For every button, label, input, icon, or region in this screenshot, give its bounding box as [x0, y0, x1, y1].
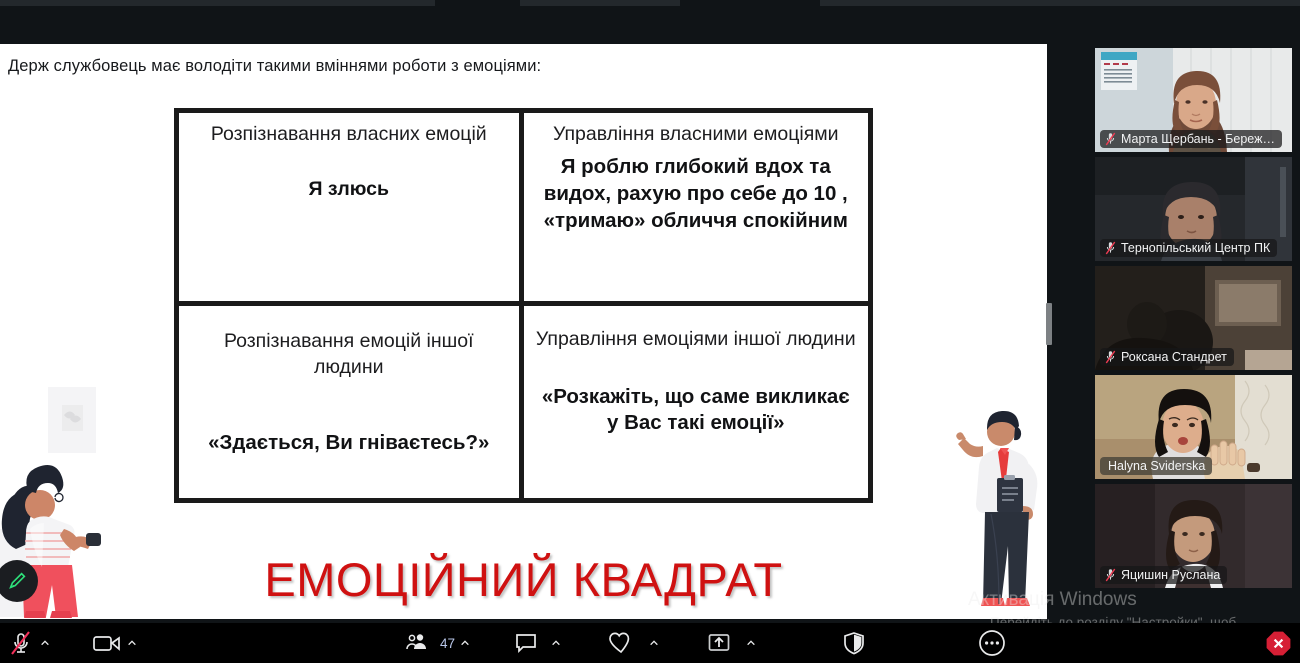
video-tile[interactable]: Тернопільський Центр ПК: [1095, 157, 1292, 261]
heart-icon: [608, 631, 634, 655]
chevron-up-icon: [649, 638, 659, 648]
quadrant-body: Я роблю глибокий вдох та видох, рахую пр…: [534, 154, 859, 234]
title-bar-segment: [820, 0, 1300, 6]
participants-options-caret[interactable]: [460, 623, 470, 663]
microphone-muted-icon: [1105, 568, 1116, 582]
reactions-button[interactable]: [608, 623, 634, 663]
video-tile[interactable]: Яцишин Руслана: [1095, 484, 1292, 588]
participant-name-label: Марта Щербань - Береж…: [1100, 130, 1282, 148]
leave-meeting-icon: [1265, 630, 1292, 657]
video-options-caret[interactable]: [127, 623, 137, 663]
quadrant-body: «Здається, Ви гніваєтесь?»: [208, 430, 489, 457]
quadrant-cell-top-right: Управління власними емоціями Я роблю гли…: [524, 113, 869, 306]
quadrant-title: Розпізнавання власних емоцій: [211, 121, 487, 147]
participant-name-text: Яцишин Руслана: [1121, 568, 1220, 582]
pen-icon: [6, 570, 28, 592]
quadrant-body: Я злюсь: [309, 177, 390, 202]
reactions-options-caret[interactable]: [649, 623, 659, 663]
leave-meeting-button[interactable]: [1265, 623, 1292, 663]
emotional-quadrant-table: Розпізнавання власних емоцій Я злюсь Упр…: [174, 108, 873, 503]
chevron-up-icon: [746, 638, 756, 648]
participant-name-text: Марта Щербань - Береж…: [1121, 132, 1275, 146]
slide-title: ЕМОЦІЙНИЙ КВАДРАТ: [0, 552, 1047, 607]
video-camera-icon: [92, 632, 122, 654]
participant-name-label: Роксана Стандрет: [1100, 348, 1234, 366]
mute-button[interactable]: [8, 623, 34, 663]
mic-options-caret[interactable]: [40, 623, 50, 663]
video-tile-active-speaker[interactable]: Halyna Sviderska: [1095, 375, 1292, 479]
quadrant-cell-bottom-right: Управління емоціями іншої людини «Розкаж…: [524, 306, 869, 499]
more-options-button[interactable]: [978, 623, 1006, 663]
quadrant-cell-bottom-left: Розпізнавання емоцій іншої людини «Здаєт…: [179, 306, 524, 499]
share-options-caret[interactable]: [746, 623, 756, 663]
shared-screen-view[interactable]: Держ службовець має володіти такими вмін…: [0, 44, 1047, 619]
microphone-muted-icon: [1105, 350, 1116, 364]
participant-name-text: Halyna Sviderska: [1108, 459, 1205, 473]
microphone-muted-icon: [1105, 132, 1116, 146]
quadrant-title: Управління емоціями іншої людини: [536, 326, 856, 352]
shield-icon: [842, 630, 866, 656]
shared-screen-scrollbar[interactable]: [1046, 303, 1052, 345]
chevron-up-icon: [40, 638, 50, 648]
participant-name-text: Роксана Стандрет: [1121, 350, 1227, 364]
security-button[interactable]: [842, 623, 866, 663]
chat-options-caret[interactable]: [551, 623, 561, 663]
microphone-muted-icon: [1105, 241, 1116, 255]
ellipsis-icon: [978, 629, 1006, 657]
chevron-up-icon: [127, 638, 137, 648]
share-screen-icon: [707, 631, 731, 655]
participants-button[interactable]: 47: [405, 623, 455, 663]
video-tile[interactable]: Роксана Стандрет: [1095, 266, 1292, 370]
title-bar-segment: [0, 0, 435, 6]
title-bar-segment: [520, 0, 680, 6]
video-tile[interactable]: Марта Щербань - Береж…: [1095, 48, 1292, 152]
participant-name-label: Яцишин Руслана: [1100, 566, 1227, 584]
share-screen-button[interactable]: [707, 623, 731, 663]
participant-name-text: Тернопільський Центр ПК: [1121, 241, 1270, 255]
start-video-button[interactable]: [92, 623, 122, 663]
chat-bubble-icon: [514, 631, 538, 655]
chat-button[interactable]: [514, 623, 538, 663]
window-title-bar: [0, 0, 1300, 8]
participant-name-label: Halyna Sviderska: [1100, 457, 1212, 475]
quadrant-title: Управління власними емоціями: [553, 121, 839, 147]
participant-filmstrip[interactable]: Марта Щербань - Береж… Тернопільський: [1095, 48, 1292, 593]
participant-name-label: Тернопільський Центр ПК: [1100, 239, 1277, 257]
microphone-muted-icon: [8, 629, 34, 657]
chevron-up-icon: [460, 638, 470, 648]
participants-icon: [405, 632, 431, 654]
quadrant-body: «Розкажіть, що саме викликає у Вас такі …: [534, 384, 859, 437]
chevron-up-icon: [551, 638, 561, 648]
quadrant-title: Розпізнавання емоцій іншої людини: [189, 328, 509, 381]
slide-heading: Держ службовець має володіти такими вмін…: [8, 57, 541, 76]
meeting-toolbar: 47: [0, 623, 1300, 663]
quadrant-cell-top-left: Розпізнавання власних емоцій Я злюсь: [179, 113, 524, 306]
participants-count: 47: [440, 636, 455, 651]
